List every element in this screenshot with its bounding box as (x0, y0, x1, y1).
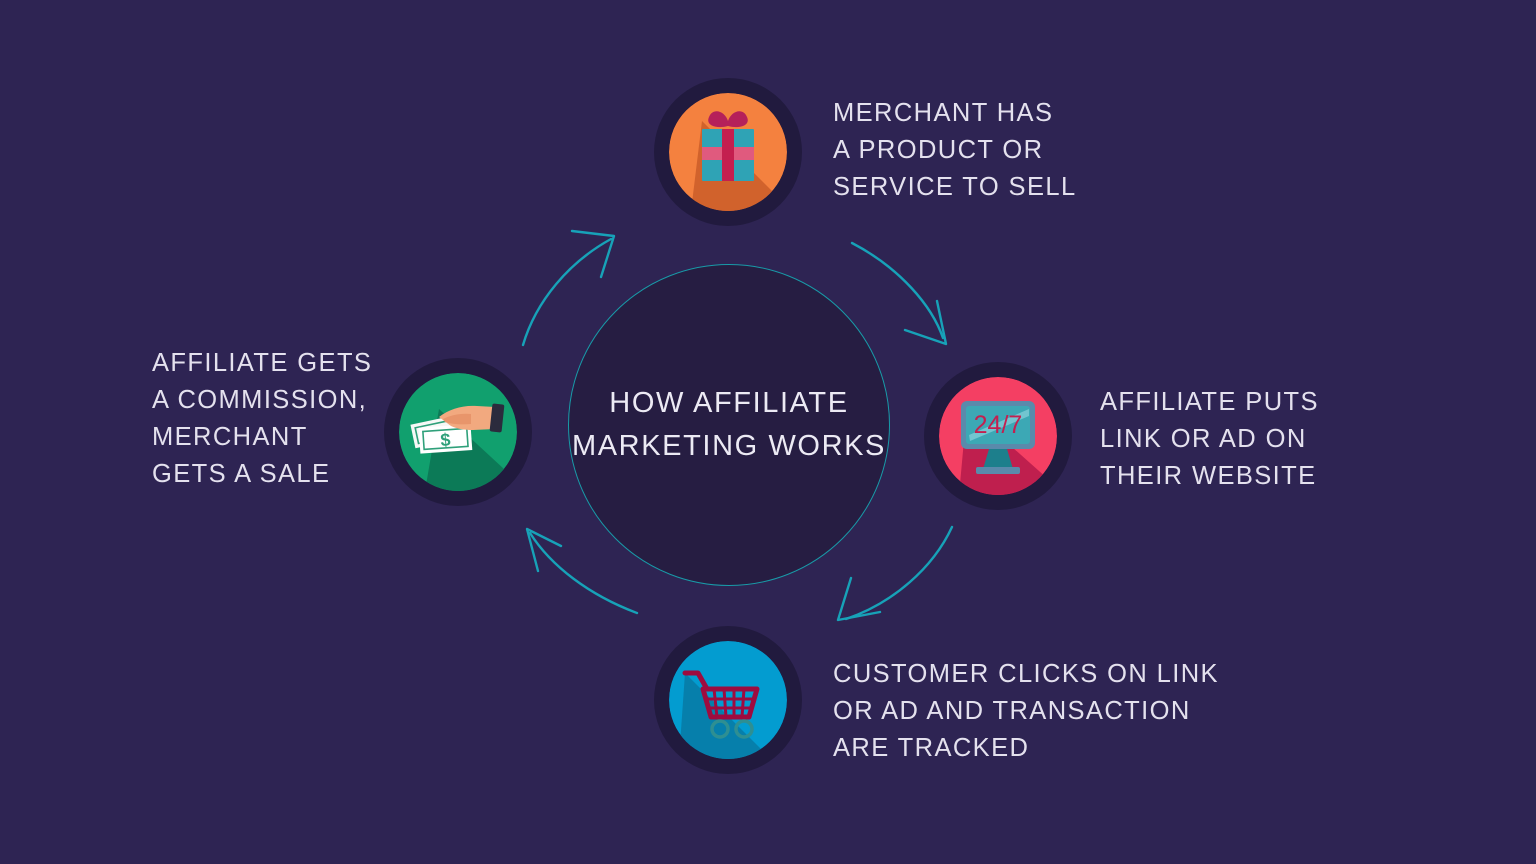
infographic-canvas: HOW AFFILIATE MARKETING WORKS MERCHANT H… (0, 0, 1536, 864)
arrow-affiliate-to-customer (838, 527, 952, 620)
caption-affiliate: AFFILIATE PUTS LINK OR AD ON THEIR WEBSI… (1100, 384, 1319, 495)
step-node-affiliate[interactable]: 24/7 (924, 362, 1072, 510)
step-node-commission[interactable]: $ (384, 358, 532, 506)
gift-box-icon (669, 93, 787, 211)
center-hub: HOW AFFILIATE MARKETING WORKS (568, 264, 890, 586)
page-title: HOW AFFILIATE MARKETING WORKS (572, 382, 886, 468)
caption-customer: CUSTOMER CLICKS ON LINK OR AD AND TRANSA… (833, 656, 1219, 767)
svg-text:$: $ (440, 430, 451, 451)
caption-commission: AFFILIATE GETS A COMMISSION, MERCHANT GE… (152, 345, 372, 493)
monitor-screen-label: 24/7 (974, 411, 1023, 439)
hand-holding-money-icon: $ (399, 373, 517, 491)
step-node-customer[interactable] (654, 626, 802, 774)
monitor-24-7-icon: 24/7 (939, 377, 1057, 495)
shopping-cart-icon (669, 641, 787, 759)
caption-merchant: MERCHANT HAS A PRODUCT OR SERVICE TO SEL… (833, 95, 1077, 206)
arrow-merchant-to-affiliate (852, 243, 946, 344)
step-node-merchant[interactable] (654, 78, 802, 226)
